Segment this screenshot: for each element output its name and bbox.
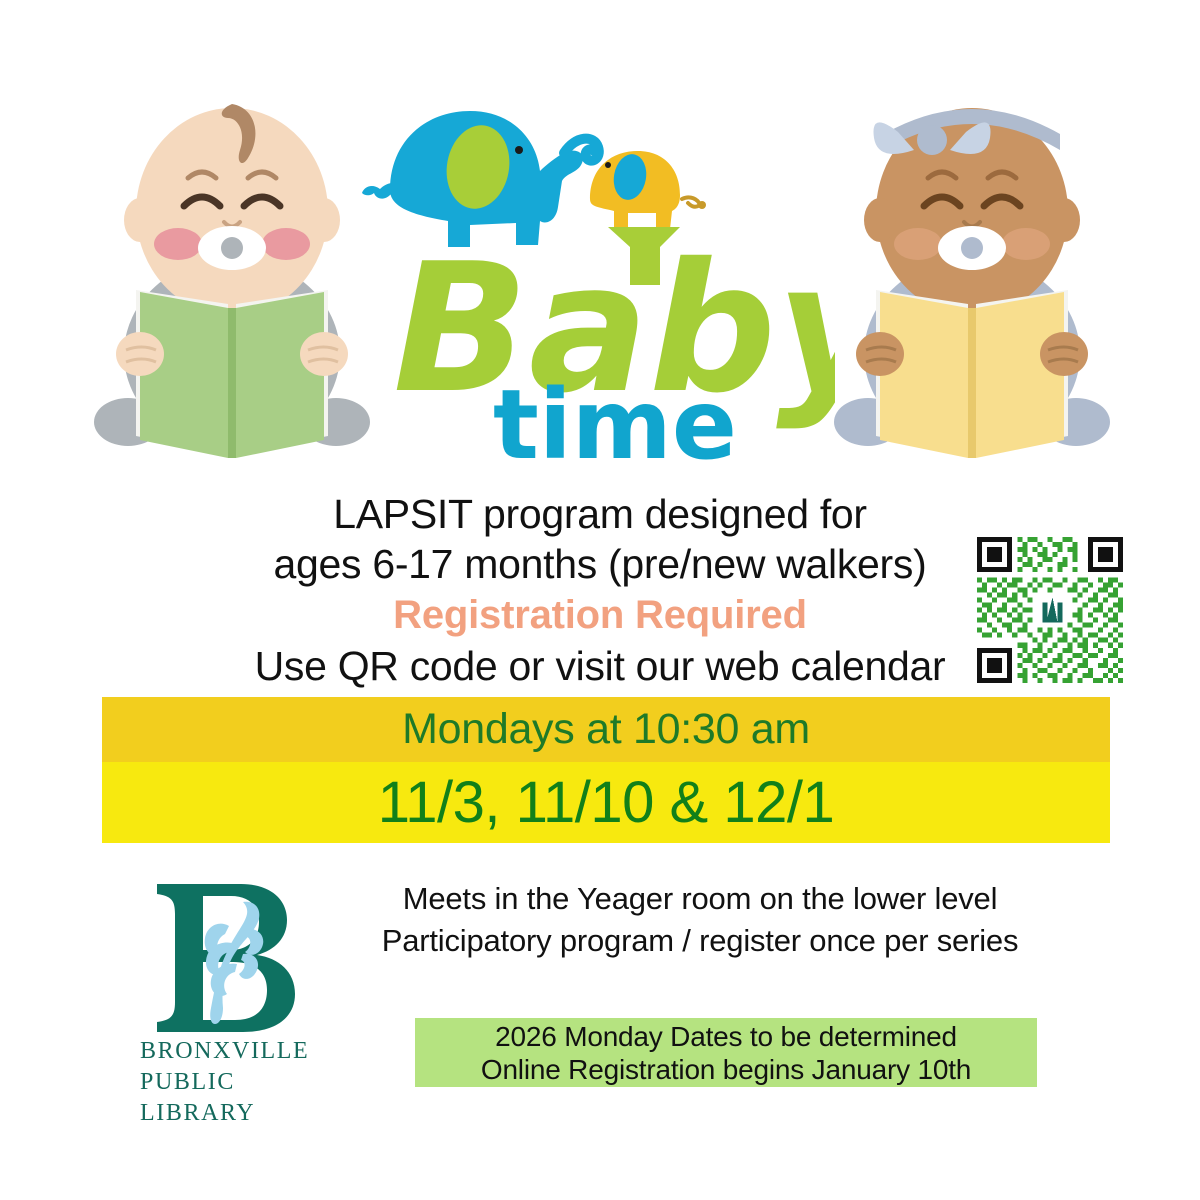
meeting-info: Meets in the Yeager room on the lower le… bbox=[350, 878, 1050, 962]
qr-code[interactable] bbox=[977, 537, 1123, 683]
schedule-time-band: Mondays at 10:30 am bbox=[102, 697, 1110, 762]
title-word-time: time bbox=[493, 369, 737, 481]
meeting-info-line-1: Meets in the Yeager room on the lower le… bbox=[350, 878, 1050, 920]
baby-reading-left-illustration bbox=[92, 92, 372, 460]
schedule-dates-band: 11/3, 11/10 & 12/1 bbox=[102, 762, 1110, 843]
library-name-line-3: LIBRARY bbox=[140, 1098, 370, 1129]
meeting-info-line-2: Participatory program / register once pe… bbox=[350, 920, 1050, 962]
schedule-dates-text: 11/3, 11/10 & 12/1 bbox=[102, 762, 1110, 843]
description-line-1: LAPSIT program designed for bbox=[0, 489, 1200, 539]
library-name-line-2: PUBLIC bbox=[140, 1067, 370, 1098]
library-name: BRONXVILLE PUBLIC LIBRARY bbox=[140, 1036, 370, 1129]
schedule-time-text: Mondays at 10:30 am bbox=[102, 697, 1110, 762]
registration-note-line-2: Online Registration begins January 10th bbox=[481, 1053, 971, 1086]
library-logo-mark bbox=[145, 868, 325, 1043]
baby-time-flyer: Baby time LAPSIT program designed for ag… bbox=[0, 0, 1200, 1200]
program-title-logotype: Baby time bbox=[385, 240, 835, 490]
registration-note-line-1: 2026 Monday Dates to be determined bbox=[495, 1020, 957, 1053]
registration-note-box: 2026 Monday Dates to be determined Onlin… bbox=[415, 1018, 1037, 1087]
baby-reading-right-illustration bbox=[832, 92, 1112, 460]
library-name-line-1: BRONXVILLE bbox=[140, 1036, 370, 1067]
